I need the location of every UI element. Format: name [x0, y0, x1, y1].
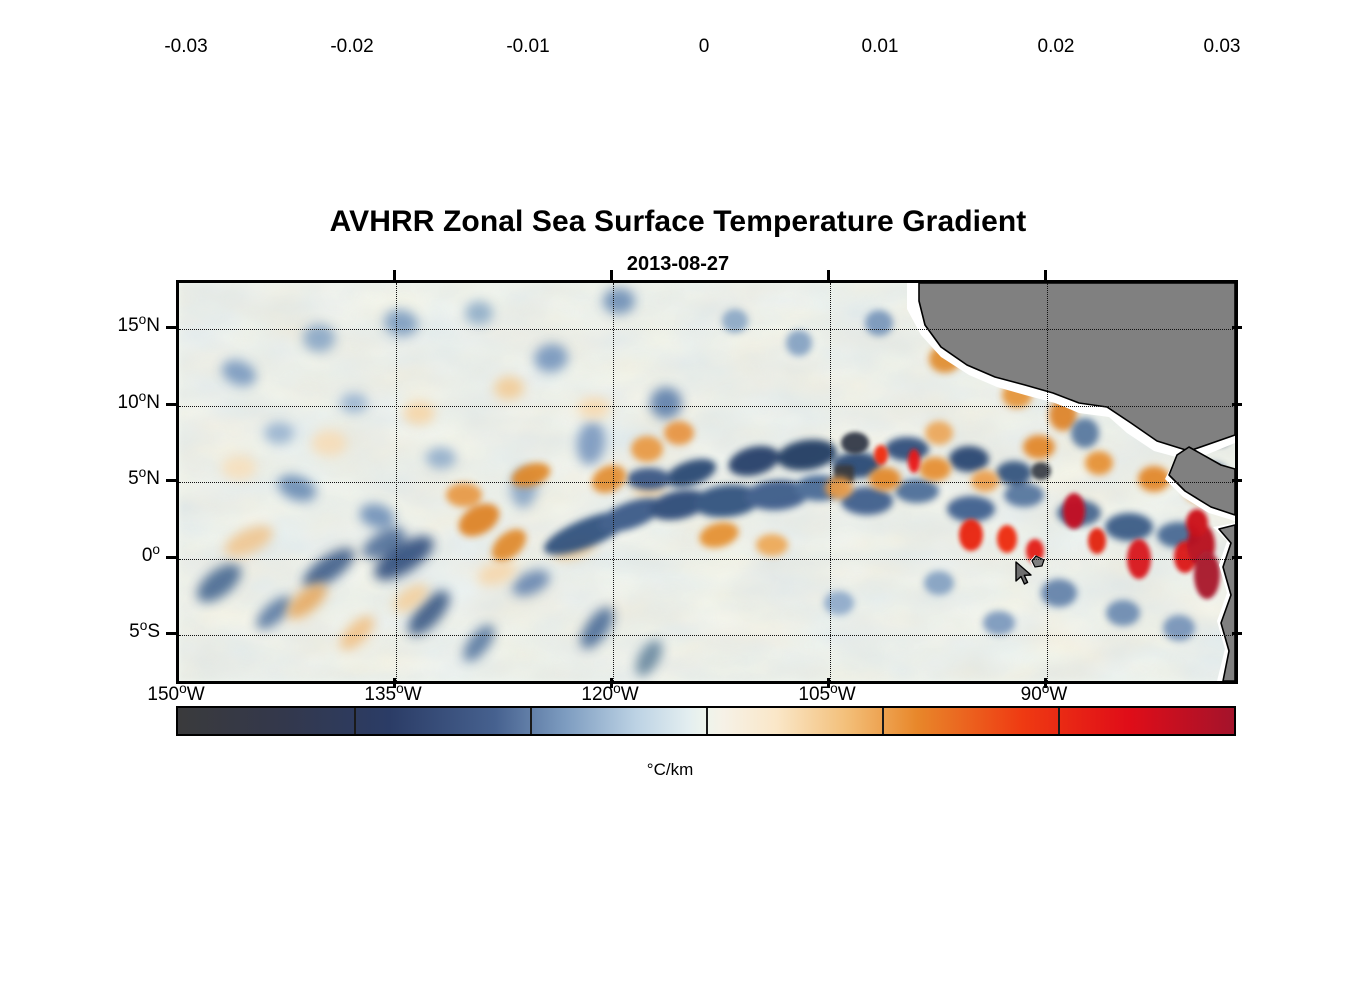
- ytick-right-5S: [1232, 632, 1242, 635]
- xtick-label-135W: 135oW: [364, 684, 421, 706]
- colorbar-label--0.03: -0.03: [164, 36, 207, 58]
- xtick-label-150W: 150oW: [147, 684, 204, 706]
- ytick-label-5N: 5oN: [60, 468, 160, 490]
- colorbar-unit-text: °C/km: [647, 760, 693, 779]
- figure-subtitle: 2013-08-27: [0, 253, 1356, 276]
- ytick-15N: [166, 326, 176, 329]
- xtick-top-105W: [827, 270, 830, 280]
- colorbar-label-0.02: 0.02: [1038, 36, 1075, 58]
- xtick-label-90W: 90oW: [1021, 684, 1068, 706]
- ytick-label-10N: 10oN: [60, 392, 160, 414]
- xtick-label-105W: 105oW: [798, 684, 855, 706]
- xtick-top-135W: [393, 270, 396, 280]
- colorbar-tick--0.01: [530, 708, 532, 734]
- ytick-0: [166, 556, 176, 559]
- ytick-label-15N: 15oN: [60, 315, 160, 337]
- colorbar-unit-label: °C/km: [0, 760, 1356, 780]
- ytick-right-15N: [1232, 326, 1242, 329]
- mouse-pointer-arrow-icon: [1013, 561, 1039, 587]
- ytick-label-5S: 5oS: [60, 621, 160, 643]
- figure-title: AVHRR Zonal Sea Surface Temperature Grad…: [0, 205, 1356, 239]
- ytick-right-5N: [1232, 479, 1242, 482]
- colorbar[interactable]: [176, 706, 1236, 736]
- colorbar-label-0.03: 0.03: [1204, 36, 1241, 58]
- colorbar-label--0.02: -0.02: [330, 36, 373, 58]
- colorbar-tick--0.02: [354, 708, 356, 734]
- ytick-label-0: 0o: [60, 545, 160, 567]
- xtick-label-120W: 120oW: [581, 684, 638, 706]
- ytick-5S: [166, 632, 176, 635]
- colorbar-tick-0.02: [1058, 708, 1060, 734]
- colorbar-label-0.01: 0.01: [862, 36, 899, 58]
- colorbar-label-0: 0: [699, 36, 710, 58]
- xtick-top-90W: [1044, 270, 1047, 280]
- colorbar-label--0.01: -0.01: [506, 36, 549, 58]
- ytick-right-10N: [1232, 403, 1242, 406]
- ytick-5N: [166, 479, 176, 482]
- ytick-right-0: [1232, 556, 1242, 559]
- colorbar-tick-0: [706, 708, 708, 734]
- xtick-top-120W: [610, 270, 613, 280]
- ytick-10N: [166, 403, 176, 406]
- colorbar-tick-0.01: [882, 708, 884, 734]
- figure-canvas: AVHRR Zonal Sea Surface Temperature Grad…: [0, 0, 1356, 1000]
